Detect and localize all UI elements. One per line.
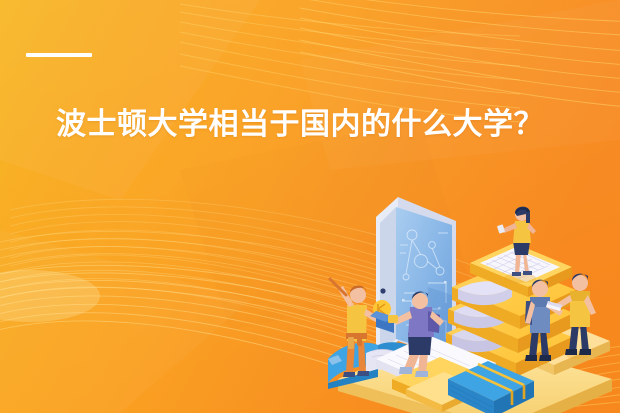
- title-accent-rule: [26, 53, 92, 57]
- promo-banner: 波士顿大学相当于国内的什么大学？: [0, 0, 620, 413]
- isometric-books-illustration: [320, 183, 620, 413]
- page-title: 波士顿大学相当于国内的什么大学？: [56, 104, 576, 146]
